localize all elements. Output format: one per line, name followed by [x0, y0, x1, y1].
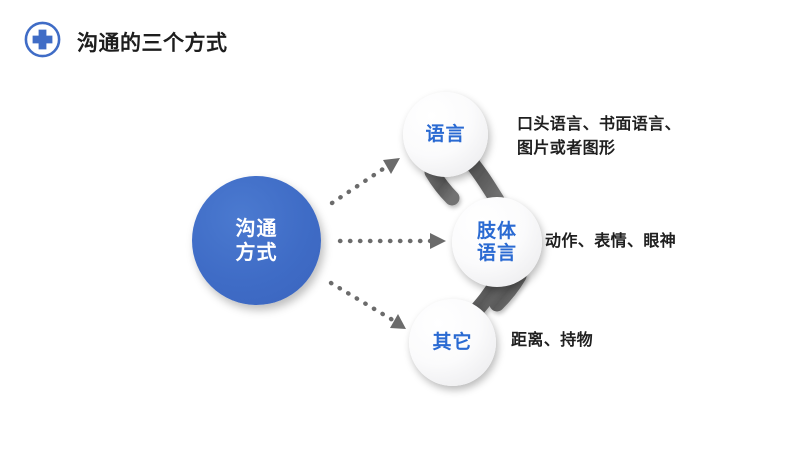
node-body-language[interactable]: 肢体 语言	[452, 197, 542, 287]
node-language[interactable]: 语言	[403, 92, 488, 177]
node-other-label: 其它	[432, 331, 472, 353]
node-language-label: 语言	[425, 123, 465, 145]
arrow-to-body-language	[340, 233, 446, 249]
arrow-to-language	[332, 158, 400, 203]
description-other: 距离、持物	[511, 328, 593, 352]
arrow-to-other	[331, 283, 406, 329]
communication-diagram: 沟通 方式 语言 肢体 语言 其它 口头语言、书面语言、 图片或者图形 动作、表…	[0, 0, 800, 450]
node-other[interactable]: 其它	[409, 299, 496, 386]
description-body-language: 动作、表情、眼神	[545, 229, 676, 253]
diagram-connectors	[0, 0, 800, 450]
node-communication-methods-label: 沟通 方式	[236, 217, 278, 263]
node-communication-methods[interactable]: 沟通 方式	[192, 176, 321, 305]
node-body-language-label: 肢体 语言	[477, 220, 517, 264]
description-language: 口头语言、书面语言、 图片或者图形	[517, 112, 681, 160]
